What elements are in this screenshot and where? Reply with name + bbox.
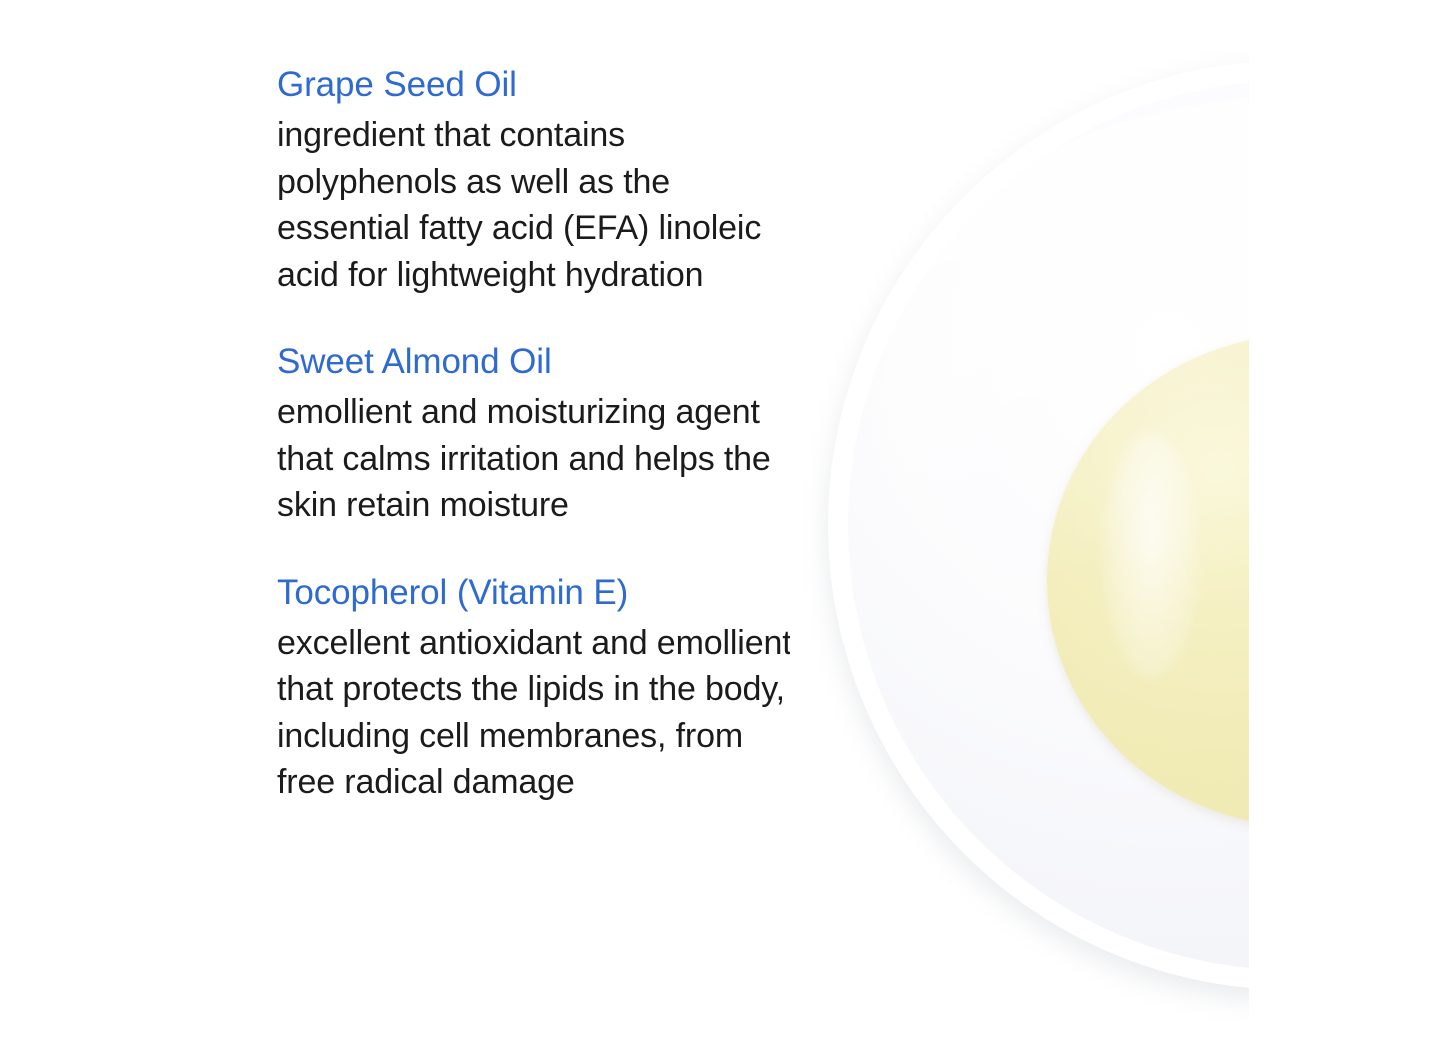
ingredient-block-grape-seed-oil: Grape Seed Oil ingredient that contains … — [277, 62, 807, 298]
ingredient-name: Grape Seed Oil — [277, 62, 807, 108]
ingredient-list: Grape Seed Oil ingredient that contains … — [277, 62, 807, 806]
ingredient-description: excellent antioxidant and emollient that… — [277, 620, 807, 806]
ingredient-name: Sweet Almond Oil — [277, 339, 807, 385]
ingredient-name: Tocopherol (Vitamin E) — [277, 570, 807, 616]
glass-dish-photo — [790, 0, 1249, 1048]
ingredient-block-tocopherol-vitamin-e: Tocopherol (Vitamin E) excellent antioxi… — [277, 570, 807, 806]
ingredient-block-sweet-almond-oil: Sweet Almond Oil emollient and moisturiz… — [277, 339, 807, 529]
dish-rim-glass-edge — [828, 60, 1249, 990]
ingredient-description: ingredient that contains polyphenols as … — [277, 112, 807, 298]
glass-dish — [828, 60, 1249, 990]
ingredient-benefits-page: Grape Seed Oil ingredient that contains … — [0, 0, 1445, 1048]
ingredient-description: emollient and moisturizing agent that ca… — [277, 389, 807, 529]
